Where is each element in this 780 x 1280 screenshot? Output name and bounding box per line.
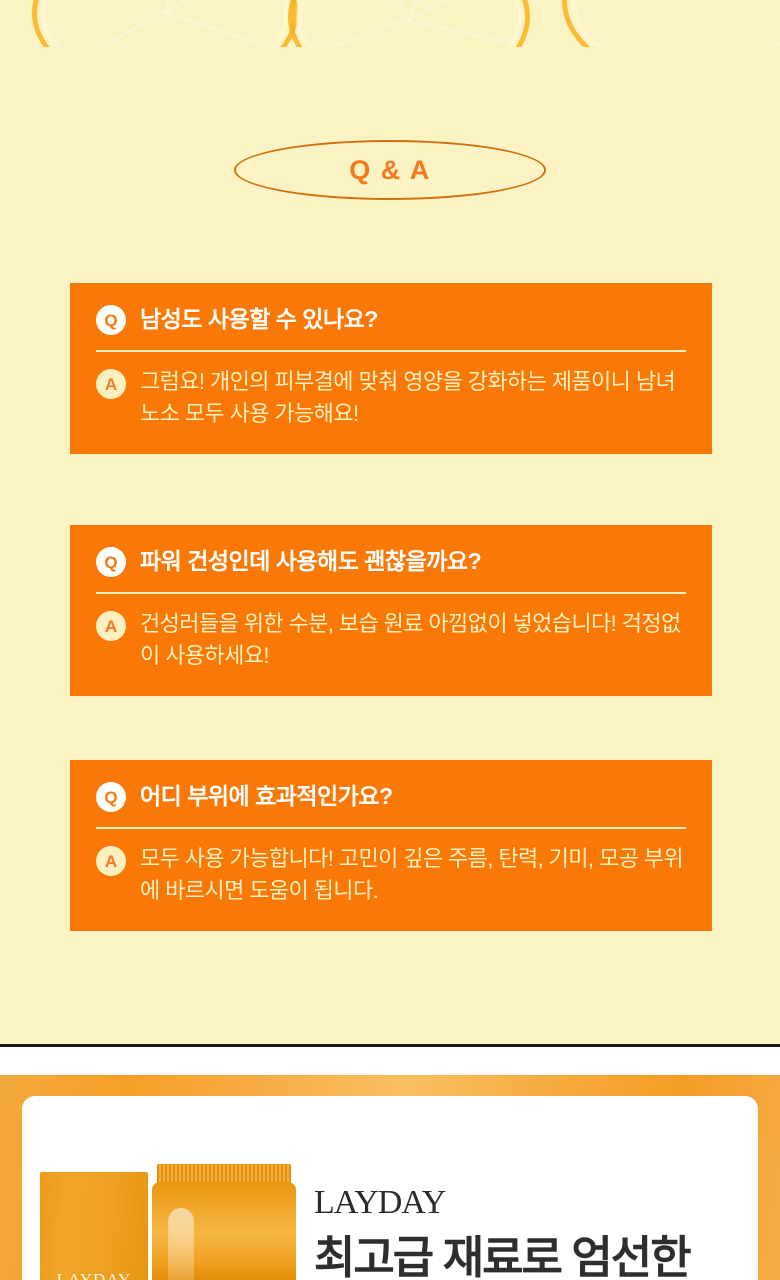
- question-badge-icon: Q: [96, 547, 126, 577]
- faq-question-text: 어디 부위에 효과적인가요?: [140, 783, 393, 811]
- faq-answer-text: 그럼요! 개인의 피부결에 맞춰 영양을 강화하는 제품이니 남녀노소 모두 사…: [140, 366, 686, 430]
- faq-answer-text: 모두 사용 가능합니다! 고민이 깊은 주름, 탄력, 기미, 모공 부위에 바…: [140, 843, 686, 907]
- faq-divider: [96, 827, 686, 829]
- question-badge-icon: Q: [96, 305, 126, 335]
- product-text-block: LAYDAY 최고급 재료로 엄선한: [314, 1184, 690, 1280]
- question-badge-icon: Q: [96, 782, 126, 812]
- section-gap: [0, 1047, 780, 1075]
- hero-orange-slices-band: [0, 0, 780, 47]
- faq-answer-text: 건성러들을 위한 수분, 보습 원료 아낌없이 넣었습니다! 걱정없이 사용하세…: [140, 608, 686, 672]
- faq-divider: [96, 592, 686, 594]
- tube-crimp: [157, 1164, 291, 1184]
- product-card: LAYDAY LAYDAY LAYDAY 최고급 재료로 엄선한: [22, 1096, 758, 1280]
- qa-heading-label: Q & A: [349, 155, 431, 186]
- qa-section-heading: Q & A: [234, 140, 546, 200]
- answer-badge-icon: A: [96, 369, 126, 399]
- tube-body: LAYDAY: [152, 1182, 296, 1280]
- answer-badge-icon: A: [96, 846, 126, 876]
- faq-question-row: Q 남성도 사용할 수 있나요?: [96, 305, 686, 335]
- faq-question-text: 파워 건성인데 사용해도 괜찮을까요?: [140, 548, 481, 576]
- faq-question-row: Q 파워 건성인데 사용해도 괜찮을까요?: [96, 547, 686, 577]
- brand-logo: LAYDAY: [314, 1184, 690, 1222]
- faq-answer-row: A 그럼요! 개인의 피부결에 맞춰 영양을 강화하는 제품이니 남녀노소 모두…: [96, 366, 686, 430]
- orange-slice-rind: [562, 0, 780, 47]
- faq-answer-row: A 모두 사용 가능합니다! 고민이 깊은 주름, 탄력, 기미, 모공 부위에…: [96, 843, 686, 907]
- answer-badge-icon: A: [96, 611, 126, 641]
- faq-card: Q 남성도 사용할 수 있나요? A 그럼요! 개인의 피부결에 맞춰 영양을 …: [70, 283, 712, 454]
- faq-divider: [96, 350, 686, 352]
- product-box-label: LAYDAY: [40, 1270, 148, 1280]
- product-tube-image: LAYDAY: [150, 1164, 298, 1280]
- product-headline: 최고급 재료로 엄선한: [314, 1234, 690, 1280]
- tube-gloss-highlight: [168, 1208, 194, 1280]
- faq-card: Q 어디 부위에 효과적인가요? A 모두 사용 가능합니다! 고민이 깊은 주…: [70, 760, 712, 931]
- faq-question-row: Q 어디 부위에 효과적인가요?: [96, 782, 686, 812]
- faq-answer-row: A 건성러들을 위한 수분, 보습 원료 아낌없이 넣었습니다! 걱정없이 사용…: [96, 608, 686, 672]
- faq-card: Q 파워 건성인데 사용해도 괜찮을까요? A 건성러들을 위한 수분, 보습 …: [70, 525, 712, 696]
- product-box-image: LAYDAY: [40, 1172, 148, 1280]
- product-banner-section: LAYDAY LAYDAY LAYDAY 최고급 재료로 엄선한: [0, 1075, 780, 1280]
- faq-question-text: 남성도 사용할 수 있나요?: [140, 306, 378, 334]
